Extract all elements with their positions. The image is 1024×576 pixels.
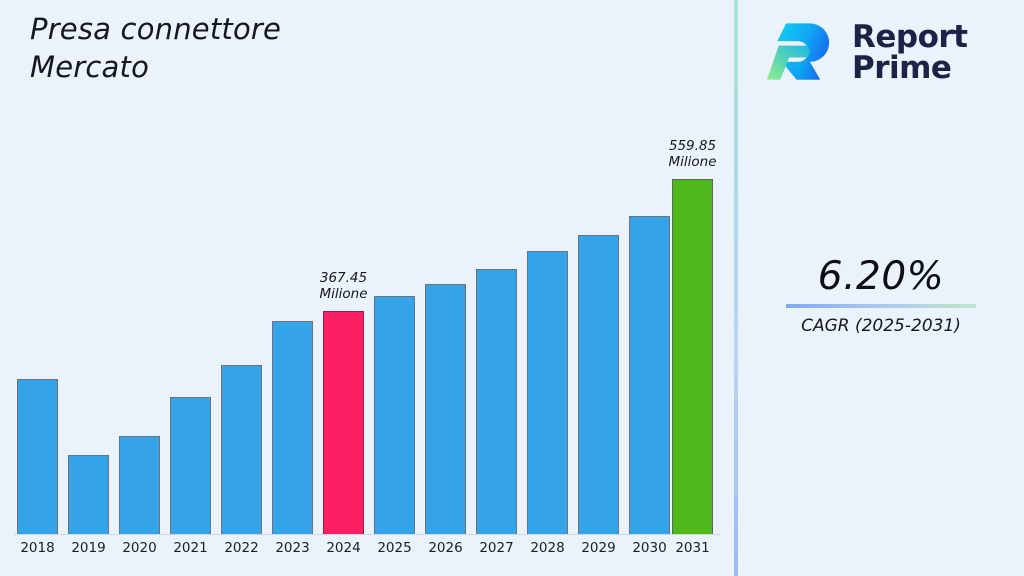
x-tick-2029: 2029 bbox=[572, 540, 625, 556]
bar-2026[interactable] bbox=[425, 284, 466, 534]
bar-fill-2024 bbox=[323, 311, 364, 534]
x-tick-2019: 2019 bbox=[62, 540, 115, 556]
x-tick-2025: 2025 bbox=[368, 540, 421, 556]
x-tick-2022: 2022 bbox=[215, 540, 268, 556]
bar-2029[interactable] bbox=[578, 235, 619, 534]
bar-fill-2028 bbox=[527, 251, 568, 534]
x-axis-baseline bbox=[14, 534, 720, 535]
chart-panel: Presa connettore Mercato 367.45Milione55… bbox=[0, 0, 735, 576]
callout-base-year-value: 367.45 bbox=[289, 270, 399, 286]
x-tick-2020: 2020 bbox=[113, 540, 166, 556]
cagr-value: 6.20% bbox=[738, 255, 1024, 299]
brand-name-line-2: Prime bbox=[852, 53, 968, 84]
market-report-infographic: Presa connettore Mercato 367.45Milione55… bbox=[0, 0, 1024, 576]
bar-chart-plot-area: 367.45Milione559.85Milione bbox=[0, 120, 735, 535]
callout-base-year-unit: Milione bbox=[289, 286, 399, 302]
callout-forecast-year: 559.85Milione bbox=[638, 138, 748, 170]
x-tick-2031: 2031 bbox=[666, 540, 719, 556]
x-axis-tick-labels: 2018201920202021202220232024202520262027… bbox=[0, 536, 735, 566]
x-tick-2028: 2028 bbox=[521, 540, 574, 556]
brand-wordmark: Report Prime bbox=[852, 22, 968, 84]
page-title: Presa connettore Mercato bbox=[30, 10, 530, 86]
x-tick-2018: 2018 bbox=[11, 540, 64, 556]
bar-2031[interactable] bbox=[672, 179, 713, 534]
bar-fill-2025 bbox=[374, 296, 415, 534]
bar-2024[interactable] bbox=[323, 311, 364, 534]
bar-2025[interactable] bbox=[374, 296, 415, 534]
bar-fill-2019 bbox=[68, 455, 109, 534]
bar-fill-2021 bbox=[170, 397, 211, 534]
chart-title-line-1: Presa connettore bbox=[30, 10, 530, 48]
cagr-divider-rule bbox=[786, 304, 976, 308]
cagr-summary: 6.20% CAGR (2025-2031) bbox=[738, 255, 1024, 337]
bar-fill-2031 bbox=[672, 179, 713, 534]
callout-base-year: 367.45Milione bbox=[289, 270, 399, 302]
chart-title-line-2: Mercato bbox=[30, 48, 530, 86]
bar-fill-2026 bbox=[425, 284, 466, 534]
x-tick-2024: 2024 bbox=[317, 540, 370, 556]
bar-fill-2027 bbox=[476, 269, 517, 534]
bar-2019[interactable] bbox=[68, 455, 109, 534]
bar-2021[interactable] bbox=[170, 397, 211, 534]
brand-logo: Report Prime bbox=[764, 16, 968, 90]
bar-fill-2022 bbox=[221, 365, 262, 534]
bar-2022[interactable] bbox=[221, 365, 262, 534]
x-tick-2021: 2021 bbox=[164, 540, 217, 556]
bar-fill-2018 bbox=[17, 379, 58, 534]
x-tick-2027: 2027 bbox=[470, 540, 523, 556]
bar-2027[interactable] bbox=[476, 269, 517, 534]
callout-forecast-year-unit: Milione bbox=[638, 154, 748, 170]
bar-2030[interactable] bbox=[629, 216, 670, 534]
bar-fill-2030 bbox=[629, 216, 670, 534]
bar-fill-2029 bbox=[578, 235, 619, 534]
bar-2028[interactable] bbox=[527, 251, 568, 534]
x-tick-2023: 2023 bbox=[266, 540, 319, 556]
brand-name-line-1: Report bbox=[852, 22, 968, 53]
callout-forecast-year-value: 559.85 bbox=[638, 138, 748, 154]
x-tick-2026: 2026 bbox=[419, 540, 472, 556]
bar-2018[interactable] bbox=[17, 379, 58, 534]
cagr-label: CAGR (2025-2031) bbox=[738, 315, 1024, 337]
brand-panel: Report Prime 6.20% CAGR (2025-2031) bbox=[738, 0, 1024, 576]
report-prime-r-logo-icon bbox=[764, 16, 838, 90]
bar-fill-2023 bbox=[272, 321, 313, 534]
bar-2020[interactable] bbox=[119, 436, 160, 534]
bar-fill-2020 bbox=[119, 436, 160, 534]
bar-2023[interactable] bbox=[272, 321, 313, 534]
